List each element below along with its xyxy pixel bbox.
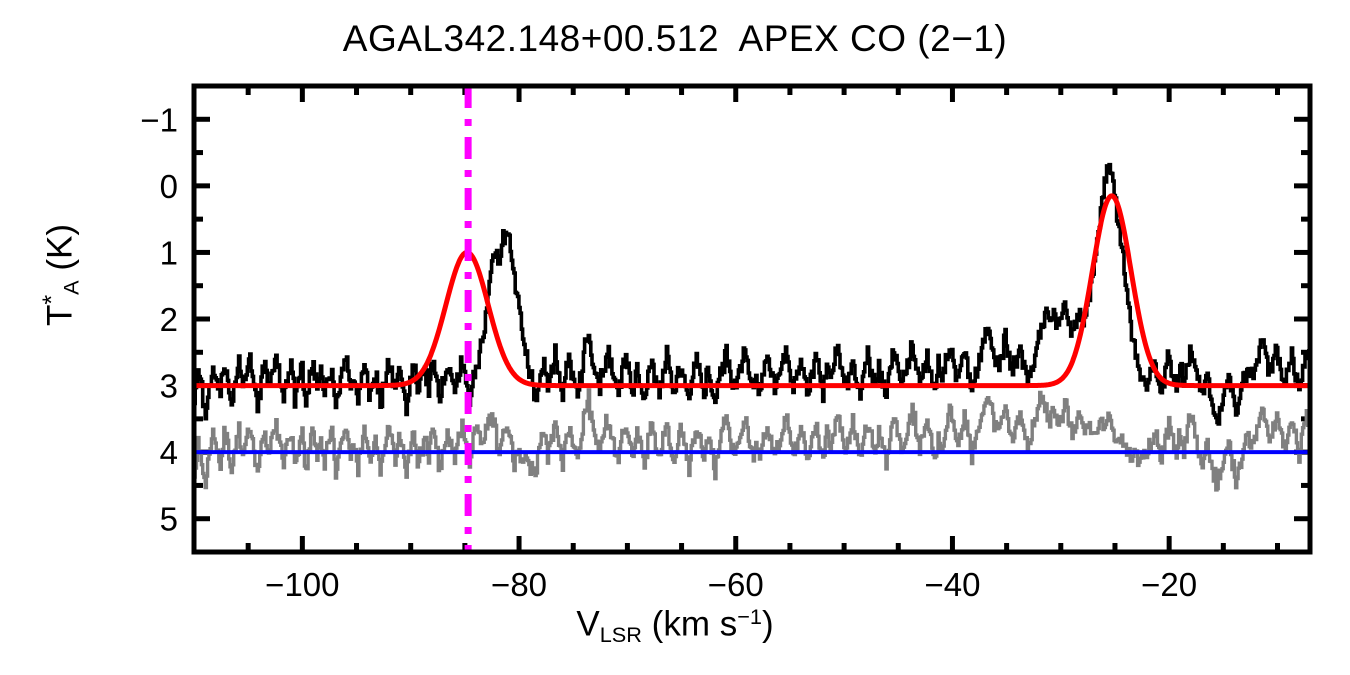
x-axis-label-unit-close: ) (762, 604, 774, 643)
x-axis-label-symbol: V (576, 604, 599, 643)
x-axis-tick-label: −20 (1141, 566, 1197, 603)
x-axis-label-unit-exponent: −1 (737, 604, 762, 629)
x-axis-tick-label: −80 (491, 566, 547, 603)
chart-canvas: 543210−1−100−80−60−40−20 (0, 0, 1350, 675)
gaussian-fit-curve (194, 196, 1310, 386)
plot-frame (194, 86, 1310, 552)
y-axis-tick-label: 5 (160, 501, 178, 538)
y-axis-tick-label: 4 (160, 434, 178, 471)
x-axis-label-subscript: LSR (600, 622, 642, 647)
y-axis-tick-label: 2 (160, 301, 178, 338)
y-axis-label-unit: (K) (40, 224, 79, 280)
y-axis-tick-label: 0 (160, 168, 178, 205)
x-axis-tick-label: −100 (265, 566, 339, 603)
y-axis-label-symbol: T (40, 305, 79, 326)
x-axis-tick-label: −40 (924, 566, 980, 603)
y-axis-label-subscript: A (58, 280, 83, 294)
y-axis-tick-label: −1 (140, 101, 178, 138)
spectrum-figure: AGAL342.148+00.512 APEX CO (2−1) 543210−… (0, 0, 1350, 675)
x-axis-tick-label: −60 (708, 566, 764, 603)
y-axis-tick-label: 1 (160, 234, 178, 271)
y-axis-label: T*A (K) (38, 155, 98, 395)
x-axis-label: VLSR (km s−1) (0, 604, 1350, 648)
y-axis-tick-label: 3 (160, 368, 178, 405)
y-axis-label-star: * (38, 295, 66, 305)
residual-trace (194, 390, 1310, 490)
plot-frame-overlay (194, 86, 1310, 552)
x-axis-label-unit-open: (km s (642, 604, 737, 643)
data-layer (194, 86, 1310, 552)
